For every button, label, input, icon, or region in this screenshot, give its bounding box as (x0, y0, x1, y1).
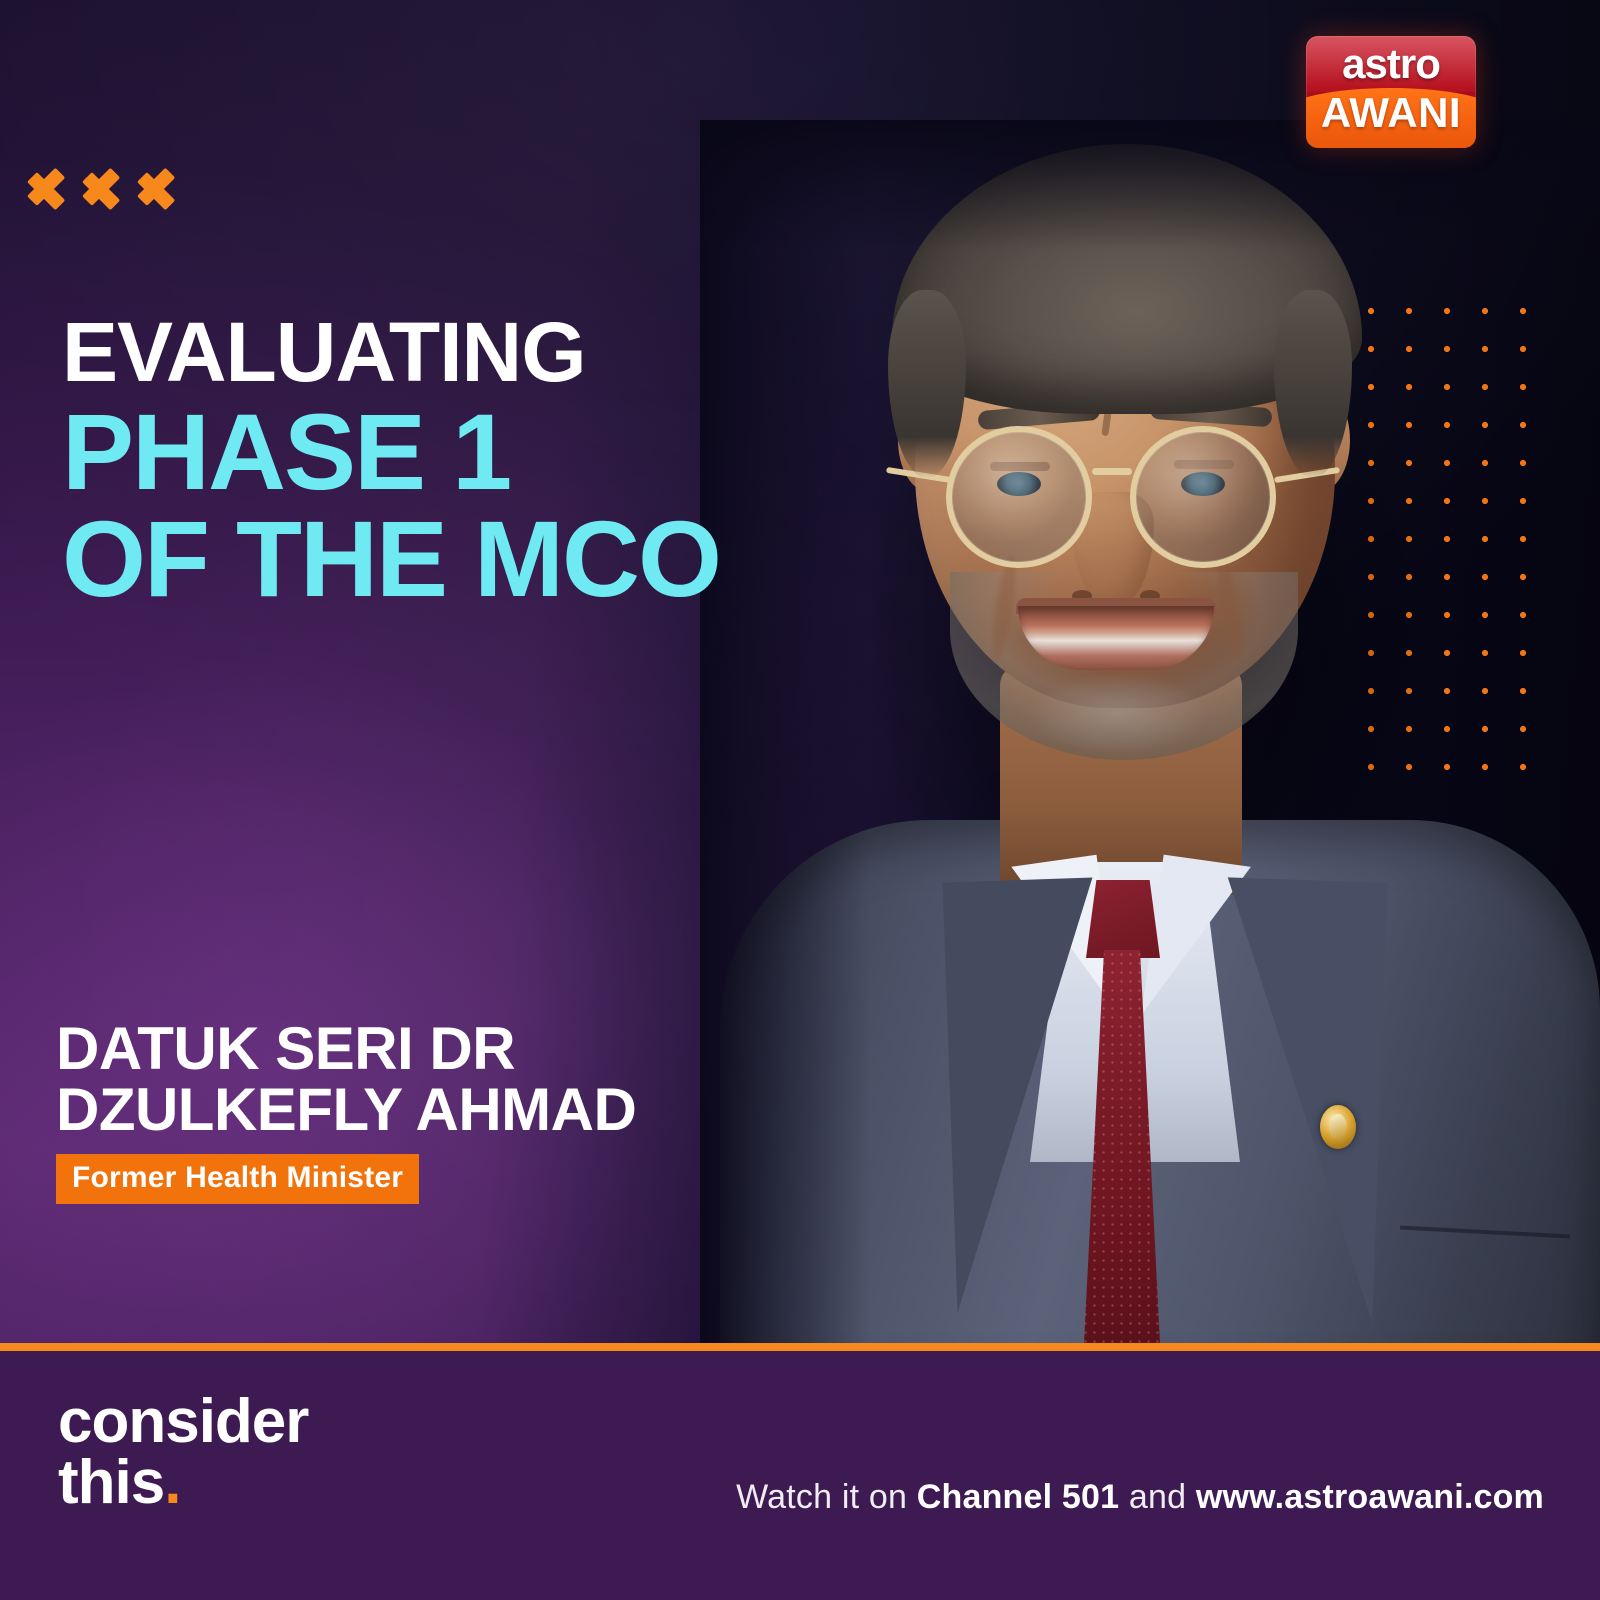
watch-conjunction: and (1129, 1478, 1186, 1516)
chevron-right-icon (28, 160, 74, 218)
glasses-lens-right (1130, 426, 1276, 568)
lapel-left (943, 878, 1108, 1313)
portrait-left-fade (700, 120, 870, 1350)
chevron-group (28, 160, 184, 218)
logo-awani-text: AWANI (1306, 92, 1476, 134)
headline-line-2: PHASE 1 (62, 399, 922, 505)
lapel-right (1212, 877, 1387, 1322)
speaker-name-line-2: DZULKEFLY AHMAD (56, 1079, 636, 1140)
logo-astro-text: astro (1306, 43, 1476, 85)
orange-divider (0, 1343, 1600, 1351)
speaker-block: DATUK SERI DR DZULKEFLY AHMAD Former Hea… (56, 1018, 636, 1204)
lapel-pin-icon (1320, 1105, 1356, 1149)
watch-prefix: Watch it on (736, 1478, 907, 1516)
headline-block: EVALUATING PHASE 1 OF THE MCO (62, 312, 922, 615)
glasses-bridge (1092, 468, 1132, 475)
chin-highlight (1000, 660, 1236, 766)
promo-poster: astro AWANI EVALUATING PHASE 1 OF THE MC… (0, 0, 1600, 1600)
chevron-right-icon (83, 160, 129, 218)
speaker-title-badge: Former Health Minister (56, 1154, 419, 1204)
glasses-lens-left (946, 426, 1092, 568)
chevron-right-icon (138, 160, 184, 218)
tie-knot (1086, 880, 1160, 958)
headline-line-1: EVALUATING (62, 312, 922, 393)
watch-website[interactable]: www.astroawani.com (1196, 1478, 1544, 1516)
show-logo-line-1: consider (58, 1392, 308, 1453)
headline-line-3: OF THE MCO (62, 504, 922, 614)
astro-awani-logo[interactable]: astro AWANI (1306, 36, 1476, 148)
speaker-portrait (700, 120, 1600, 1350)
speaker-name-line-1: DATUK SERI DR (56, 1018, 636, 1079)
watch-channel: Channel 501 (917, 1478, 1120, 1516)
watch-info: Watch it on Channel 501 and www.astroawa… (0, 1478, 1600, 1517)
